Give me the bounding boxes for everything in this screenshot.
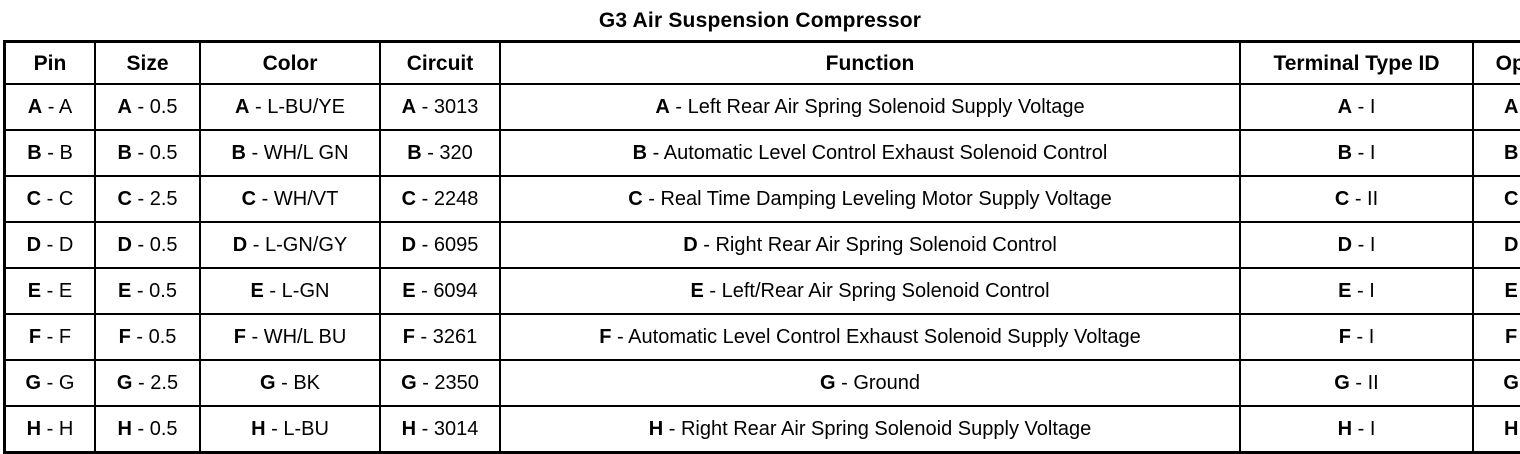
pin-key-prefix: A bbox=[117, 96, 131, 118]
cell-content: F - - - bbox=[1505, 327, 1520, 347]
cell-color: H - L-BU bbox=[200, 406, 380, 453]
key-value-separator: - bbox=[647, 142, 664, 164]
pin-key-prefix: E bbox=[402, 280, 415, 302]
key-value-separator: - bbox=[41, 418, 59, 440]
cell-content: A - Left Rear Air Spring Solenoid Supply… bbox=[655, 97, 1084, 117]
cell-value-circuit: 2350 bbox=[434, 372, 479, 394]
cell-circuit: A - 3013 bbox=[380, 84, 500, 130]
cell-content: F - Automatic Level Control Exhaust Sole… bbox=[599, 327, 1140, 347]
cell-circuit: G - 2350 bbox=[380, 360, 500, 406]
cell-content: F - I bbox=[1339, 327, 1375, 347]
cell-size: D - 0.5 bbox=[95, 222, 200, 268]
key-value-separator: - bbox=[416, 280, 434, 302]
cell-content: D - - - bbox=[1504, 235, 1520, 255]
cell-content: F - 3261 bbox=[403, 327, 478, 347]
column-header-color: Color bbox=[200, 42, 380, 85]
column-header-option: Option bbox=[1473, 42, 1520, 85]
key-value-separator: - bbox=[704, 280, 722, 302]
cell-content: F - F bbox=[29, 327, 71, 347]
cell-value-color: L-BU/YE bbox=[267, 96, 345, 118]
key-value-separator: - bbox=[416, 96, 434, 118]
cell-content: F - WH/L BU bbox=[234, 327, 347, 347]
pin-key-prefix: H bbox=[649, 418, 663, 440]
cell-content: E - I bbox=[1338, 281, 1375, 301]
cell-option: C - - - bbox=[1473, 176, 1520, 222]
cell-color: B - WH/L GN bbox=[200, 130, 380, 176]
pin-key-prefix: B bbox=[27, 142, 41, 164]
cell-function: A - Left Rear Air Spring Solenoid Supply… bbox=[500, 84, 1240, 130]
pin-key-prefix: B bbox=[633, 142, 647, 164]
cell-color: A - L-BU/YE bbox=[200, 84, 380, 130]
cell-content: D - 0.5 bbox=[117, 235, 177, 255]
key-value-separator: - bbox=[836, 372, 854, 394]
cell-option: D - - - bbox=[1473, 222, 1520, 268]
pin-key-prefix: B bbox=[1338, 142, 1352, 164]
cell-value-function: Left Rear Air Spring Solenoid Supply Vol… bbox=[688, 96, 1085, 118]
cell-content: G - Ground bbox=[820, 373, 920, 393]
cell-value-color: WH/L BU bbox=[264, 326, 347, 348]
cell-content: A - - - bbox=[1504, 97, 1520, 117]
key-value-separator: - bbox=[246, 142, 264, 164]
key-value-separator: - bbox=[276, 372, 294, 394]
key-value-separator: - bbox=[132, 96, 150, 118]
pin-key-prefix: E bbox=[28, 280, 41, 302]
cell-content: G - II bbox=[1334, 373, 1378, 393]
pin-key-prefix: D bbox=[1504, 234, 1518, 256]
cell-circuit: D - 6095 bbox=[380, 222, 500, 268]
key-value-separator: - bbox=[41, 280, 59, 302]
key-value-separator: - bbox=[415, 326, 433, 348]
key-value-separator: - bbox=[670, 96, 688, 118]
pin-key-prefix: A bbox=[402, 96, 416, 118]
pin-key-prefix: D bbox=[27, 234, 41, 256]
pin-key-prefix: E bbox=[690, 280, 703, 302]
cell-circuit: C - 2248 bbox=[380, 176, 500, 222]
pin-key-prefix: G bbox=[26, 372, 42, 394]
pin-key-prefix: C bbox=[1335, 188, 1349, 210]
pin-key-prefix: A bbox=[1504, 96, 1518, 118]
key-value-separator: - bbox=[132, 188, 150, 210]
cell-content: D - Right Rear Air Spring Solenoid Contr… bbox=[683, 235, 1057, 255]
cell-pin: F - F bbox=[5, 314, 96, 360]
cell-value-circuit: 320 bbox=[439, 142, 472, 164]
pin-key-prefix: H bbox=[402, 418, 416, 440]
cell-color: D - L-GN/GY bbox=[200, 222, 380, 268]
table-row: A - AA - 0.5A - L-BU/YEA - 3013A - Left … bbox=[5, 84, 1520, 130]
cell-value-function: Right Rear Air Spring Solenoid Control bbox=[715, 234, 1056, 256]
key-value-separator: - bbox=[416, 188, 434, 210]
cell-content: A - 0.5 bbox=[117, 97, 177, 117]
cell-value-size: 2.5 bbox=[150, 372, 178, 394]
key-value-separator: - bbox=[256, 188, 274, 210]
cell-content: E - Left/Rear Air Spring Solenoid Contro… bbox=[690, 281, 1049, 301]
cell-option: F - - - bbox=[1473, 314, 1520, 360]
pin-key-prefix: C bbox=[117, 188, 131, 210]
pin-key-prefix: H bbox=[1504, 418, 1518, 440]
pin-key-prefix: C bbox=[242, 188, 256, 210]
cell-content: A - L-BU/YE bbox=[235, 97, 345, 117]
cell-content: E - L-GN bbox=[251, 281, 330, 301]
cell-content: D - 6095 bbox=[402, 235, 479, 255]
cell-content: H - H bbox=[27, 419, 74, 439]
pin-key-prefix: F bbox=[29, 326, 41, 348]
cell-terminal: H - I bbox=[1240, 406, 1473, 453]
cell-value-color: L-GN bbox=[282, 280, 330, 302]
table-row: B - BB - 0.5B - WH/L GNB - 320B - Automa… bbox=[5, 130, 1520, 176]
cell-content: E - - - bbox=[1504, 281, 1520, 301]
cell-terminal: B - I bbox=[1240, 130, 1473, 176]
cell-terminal: D - I bbox=[1240, 222, 1473, 268]
table-row: E - EE - 0.5E - L-GNE - 6094E - Left/Rea… bbox=[5, 268, 1520, 314]
cell-value-size: 0.5 bbox=[150, 96, 178, 118]
pin-key-prefix: F bbox=[234, 326, 246, 348]
key-value-separator: - bbox=[41, 326, 59, 348]
key-value-separator: - bbox=[612, 326, 629, 348]
cell-value-terminal: II bbox=[1368, 372, 1379, 394]
cell-value-size: 0.5 bbox=[149, 280, 177, 302]
cell-content: G - 2.5 bbox=[117, 373, 178, 393]
pin-key-prefix: A bbox=[655, 96, 669, 118]
cell-value-circuit: 6094 bbox=[433, 280, 478, 302]
cell-content: C - C bbox=[27, 189, 74, 209]
pin-key-prefix: D bbox=[402, 234, 416, 256]
key-value-separator: - bbox=[132, 418, 150, 440]
pin-key-prefix: H bbox=[27, 418, 41, 440]
cell-content: C - - - bbox=[1504, 189, 1520, 209]
key-value-separator: - bbox=[1351, 326, 1369, 348]
column-header-function: Function bbox=[500, 42, 1240, 85]
cell-function: F - Automatic Level Control Exhaust Sole… bbox=[500, 314, 1240, 360]
cell-content: C - II bbox=[1335, 189, 1378, 209]
cell-value-size: 0.5 bbox=[149, 326, 177, 348]
cell-value-pin: G bbox=[59, 372, 75, 394]
cell-value-size: 0.5 bbox=[150, 234, 178, 256]
key-value-separator: - bbox=[132, 372, 150, 394]
cell-value-pin: C bbox=[59, 188, 73, 210]
cell-content: C - WH/VT bbox=[242, 189, 339, 209]
key-value-separator: - bbox=[247, 234, 265, 256]
key-value-separator: - bbox=[1352, 234, 1370, 256]
cell-value-pin: F bbox=[59, 326, 71, 348]
cell-content: E - E bbox=[28, 281, 72, 301]
cell-circuit: H - 3014 bbox=[380, 406, 500, 453]
key-value-separator: - bbox=[246, 326, 264, 348]
cell-pin: G - G bbox=[5, 360, 96, 406]
key-value-separator: - bbox=[42, 96, 59, 118]
cell-function: G - Ground bbox=[500, 360, 1240, 406]
cell-terminal: A - I bbox=[1240, 84, 1473, 130]
cell-value-color: L-GN/GY bbox=[265, 234, 347, 256]
cell-content: B - 320 bbox=[407, 143, 473, 163]
cell-content: G - G bbox=[26, 373, 75, 393]
cell-circuit: E - 6094 bbox=[380, 268, 500, 314]
key-value-separator: - bbox=[266, 418, 284, 440]
pin-key-prefix: C bbox=[27, 188, 41, 210]
cell-value-function: Automatic Level Control Exhaust Solenoid… bbox=[628, 326, 1141, 348]
table-header-row: Pin Size Color Circuit Function Terminal… bbox=[5, 42, 1520, 85]
cell-color: F - WH/L BU bbox=[200, 314, 380, 360]
key-value-separator: - bbox=[1349, 188, 1367, 210]
cell-content: G - - - bbox=[1503, 373, 1520, 393]
pin-key-prefix: B bbox=[231, 142, 245, 164]
cell-content: G - BK bbox=[260, 373, 320, 393]
cell-terminal: F - I bbox=[1240, 314, 1473, 360]
cell-size: F - 0.5 bbox=[95, 314, 200, 360]
cell-value-pin: B bbox=[59, 142, 72, 164]
cell-value-function: Left/Rear Air Spring Solenoid Control bbox=[722, 280, 1050, 302]
pin-key-prefix: D bbox=[1338, 234, 1352, 256]
key-value-separator: - bbox=[1352, 280, 1370, 302]
cell-function: D - Right Rear Air Spring Solenoid Contr… bbox=[500, 222, 1240, 268]
cell-color: C - WH/VT bbox=[200, 176, 380, 222]
cell-pin: D - D bbox=[5, 222, 96, 268]
cell-size: H - 0.5 bbox=[95, 406, 200, 453]
cell-terminal: E - I bbox=[1240, 268, 1473, 314]
cell-value-circuit: 2248 bbox=[434, 188, 479, 210]
cell-terminal: C - II bbox=[1240, 176, 1473, 222]
cell-content: E - 6094 bbox=[402, 281, 478, 301]
cell-content: B - WH/L GN bbox=[231, 143, 348, 163]
cell-value-terminal: I bbox=[1370, 142, 1376, 164]
cell-value-color: BK bbox=[293, 372, 320, 394]
cell-value-circuit: 6095 bbox=[434, 234, 479, 256]
pin-key-prefix: B bbox=[117, 142, 131, 164]
cell-content: C - 2.5 bbox=[117, 189, 177, 209]
key-value-separator: - bbox=[416, 418, 434, 440]
pin-key-prefix: C bbox=[402, 188, 416, 210]
cell-content: C - 2248 bbox=[402, 189, 479, 209]
key-value-separator: - bbox=[132, 234, 150, 256]
cell-color: E - L-GN bbox=[200, 268, 380, 314]
pin-key-prefix: G bbox=[117, 372, 133, 394]
cell-value-terminal: I bbox=[1370, 418, 1376, 440]
connector-pinout-page: G3 Air Suspension Compressor Pin Size Co… bbox=[0, 0, 1520, 432]
cell-function: H - Right Rear Air Spring Solenoid Suppl… bbox=[500, 406, 1240, 453]
cell-content: C - Real Time Damping Leveling Motor Sup… bbox=[628, 189, 1112, 209]
cell-content: A - I bbox=[1338, 97, 1376, 117]
cell-content: H - I bbox=[1338, 419, 1376, 439]
cell-size: E - 0.5 bbox=[95, 268, 200, 314]
cell-option: A - - - bbox=[1473, 84, 1520, 130]
cell-content: B - I bbox=[1338, 143, 1376, 163]
cell-content: B - Automatic Level Control Exhaust Sole… bbox=[633, 143, 1108, 163]
pin-key-prefix: A bbox=[1338, 96, 1352, 118]
cell-size: C - 2.5 bbox=[95, 176, 200, 222]
column-header-terminal-type-id: Terminal Type ID bbox=[1240, 42, 1473, 85]
cell-content: D - D bbox=[27, 235, 74, 255]
cell-content: H - 3014 bbox=[402, 419, 479, 439]
cell-value-terminal: I bbox=[1370, 96, 1376, 118]
key-value-separator: - bbox=[41, 188, 59, 210]
table-header: Pin Size Color Circuit Function Terminal… bbox=[5, 42, 1520, 85]
column-header-size: Size bbox=[95, 42, 200, 85]
cell-content: H - 0.5 bbox=[117, 419, 177, 439]
cell-value-function: Real Time Damping Leveling Motor Supply … bbox=[660, 188, 1111, 210]
table-row: F - FF - 0.5F - WH/L BUF - 3261F - Autom… bbox=[5, 314, 1520, 360]
cell-content: G - 2350 bbox=[401, 373, 479, 393]
column-header-pin: Pin bbox=[5, 42, 96, 85]
cell-content: D - I bbox=[1338, 235, 1376, 255]
cell-value-pin: H bbox=[59, 418, 73, 440]
table-row: C - CC - 2.5C - WH/VTC - 2248C - Real Ti… bbox=[5, 176, 1520, 222]
cell-value-size: 2.5 bbox=[150, 188, 178, 210]
cell-circuit: F - 3261 bbox=[380, 314, 500, 360]
key-value-separator: - bbox=[1352, 142, 1370, 164]
cell-value-circuit: 3261 bbox=[433, 326, 478, 348]
pin-key-prefix: F bbox=[1339, 326, 1351, 348]
pin-key-prefix: G bbox=[401, 372, 417, 394]
cell-pin: A - A bbox=[5, 84, 96, 130]
cell-value-circuit: 3014 bbox=[434, 418, 479, 440]
cell-content: H - L-BU bbox=[251, 419, 329, 439]
pin-key-prefix: H bbox=[117, 418, 131, 440]
pin-key-prefix: E bbox=[251, 280, 264, 302]
cell-content: E - 0.5 bbox=[118, 281, 177, 301]
pin-key-prefix: A bbox=[235, 96, 249, 118]
cell-content: H - Right Rear Air Spring Solenoid Suppl… bbox=[649, 419, 1092, 439]
pin-key-prefix: G bbox=[1503, 372, 1519, 394]
cell-option: E - - - bbox=[1473, 268, 1520, 314]
cell-value-color: WH/L GN bbox=[264, 142, 349, 164]
pin-key-prefix: D bbox=[233, 234, 247, 256]
cell-value-terminal: II bbox=[1367, 188, 1378, 210]
cell-size: A - 0.5 bbox=[95, 84, 200, 130]
pin-key-prefix: H bbox=[251, 418, 265, 440]
key-value-separator: - bbox=[41, 234, 59, 256]
key-value-separator: - bbox=[132, 142, 150, 164]
cell-option: G - - - bbox=[1473, 360, 1520, 406]
cell-content: B - 0.5 bbox=[117, 143, 177, 163]
cell-value-circuit: 3013 bbox=[434, 96, 479, 118]
cell-option: B - - - bbox=[1473, 130, 1520, 176]
pin-key-prefix: C bbox=[1504, 188, 1518, 210]
cell-value-size: 0.5 bbox=[150, 418, 178, 440]
cell-content: A - 3013 bbox=[402, 97, 479, 117]
cell-value-pin: A bbox=[59, 96, 72, 118]
key-value-separator: - bbox=[131, 280, 149, 302]
pin-key-prefix: E bbox=[1338, 280, 1351, 302]
key-value-separator: - bbox=[417, 372, 435, 394]
cell-color: G - BK bbox=[200, 360, 380, 406]
cell-value-pin: E bbox=[59, 280, 72, 302]
table-body: A - AA - 0.5A - L-BU/YEA - 3013A - Left … bbox=[5, 84, 1520, 453]
cell-content: B - B bbox=[27, 143, 73, 163]
cell-value-terminal: I bbox=[1370, 234, 1376, 256]
cell-function: C - Real Time Damping Leveling Motor Sup… bbox=[500, 176, 1240, 222]
cell-value-pin: D bbox=[59, 234, 73, 256]
key-value-separator: - bbox=[1350, 372, 1368, 394]
cell-pin: H - H bbox=[5, 406, 96, 453]
key-value-separator: - bbox=[41, 372, 59, 394]
table-row: G - GG - 2.5G - BKG - 2350G - GroundG - … bbox=[5, 360, 1520, 406]
pin-key-prefix: B bbox=[407, 142, 421, 164]
key-value-separator: - bbox=[42, 142, 60, 164]
cell-size: G - 2.5 bbox=[95, 360, 200, 406]
cell-pin: B - B bbox=[5, 130, 96, 176]
key-value-separator: - bbox=[663, 418, 681, 440]
cell-content: A - A bbox=[28, 97, 72, 117]
key-value-separator: - bbox=[1352, 418, 1370, 440]
pin-key-prefix: D bbox=[117, 234, 131, 256]
pin-key-prefix: G bbox=[1334, 372, 1350, 394]
key-value-separator: - bbox=[698, 234, 716, 256]
key-value-separator: - bbox=[422, 142, 440, 164]
pin-key-prefix: F bbox=[599, 326, 611, 348]
pin-key-prefix: C bbox=[628, 188, 642, 210]
cell-value-function: Automatic Level Control Exhaust Solenoid… bbox=[664, 142, 1108, 164]
cell-content: D - L-GN/GY bbox=[233, 235, 347, 255]
cell-function: B - Automatic Level Control Exhaust Sole… bbox=[500, 130, 1240, 176]
pin-key-prefix: B bbox=[1504, 142, 1518, 164]
key-value-separator: - bbox=[131, 326, 149, 348]
pin-key-prefix: D bbox=[683, 234, 697, 256]
cell-value-terminal: I bbox=[1369, 280, 1375, 302]
pin-key-prefix: G bbox=[260, 372, 276, 394]
title-bar: G3 Air Suspension Compressor bbox=[0, 0, 1520, 40]
cell-circuit: B - 320 bbox=[380, 130, 500, 176]
key-value-separator: - bbox=[1352, 96, 1370, 118]
pin-key-prefix: H bbox=[1338, 418, 1352, 440]
cell-content: H - - - bbox=[1504, 419, 1520, 439]
cell-content: B - - - bbox=[1504, 143, 1520, 163]
cell-option: H - - - bbox=[1473, 406, 1520, 453]
pin-key-prefix: G bbox=[820, 372, 836, 394]
cell-terminal: G - II bbox=[1240, 360, 1473, 406]
cell-value-color: WH/VT bbox=[274, 188, 338, 210]
page-title: G3 Air Suspension Compressor bbox=[599, 10, 921, 31]
pin-key-prefix: F bbox=[119, 326, 131, 348]
pin-key-prefix: F bbox=[1505, 326, 1517, 348]
key-value-separator: - bbox=[249, 96, 267, 118]
cell-value-size: 0.5 bbox=[150, 142, 178, 164]
cell-value-function: Right Rear Air Spring Solenoid Supply Vo… bbox=[681, 418, 1091, 440]
cell-pin: C - C bbox=[5, 176, 96, 222]
pin-key-prefix: A bbox=[28, 96, 42, 118]
key-value-separator: - bbox=[416, 234, 434, 256]
cell-content: F - 0.5 bbox=[119, 327, 177, 347]
pin-key-prefix: F bbox=[403, 326, 415, 348]
key-value-separator: - bbox=[264, 280, 282, 302]
cell-value-terminal: I bbox=[1369, 326, 1375, 348]
pin-key-prefix: E bbox=[1504, 280, 1517, 302]
cell-value-color: L-BU bbox=[283, 418, 329, 440]
connector-pinout-table: Pin Size Color Circuit Function Terminal… bbox=[3, 40, 1520, 454]
key-value-separator: - bbox=[643, 188, 661, 210]
cell-pin: E - E bbox=[5, 268, 96, 314]
cell-function: E - Left/Rear Air Spring Solenoid Contro… bbox=[500, 268, 1240, 314]
table-row: D - DD - 0.5D - L-GN/GYD - 6095D - Right… bbox=[5, 222, 1520, 268]
cell-value-function: Ground bbox=[853, 372, 920, 394]
column-header-circuit: Circuit bbox=[380, 42, 500, 85]
pin-key-prefix: E bbox=[118, 280, 131, 302]
table-row: H - HH - 0.5H - L-BUH - 3014H - Right Re… bbox=[5, 406, 1520, 453]
cell-size: B - 0.5 bbox=[95, 130, 200, 176]
